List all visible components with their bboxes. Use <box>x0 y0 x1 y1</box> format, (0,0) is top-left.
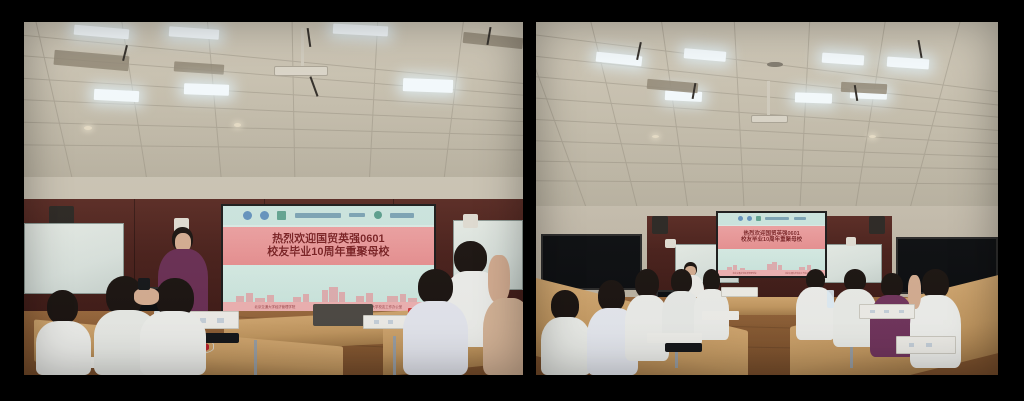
ceiling-light-panel <box>403 78 453 93</box>
attendee-arm <box>134 288 159 305</box>
logo-mark-icon <box>374 211 382 219</box>
ceiling <box>24 22 523 184</box>
gift-box <box>859 304 914 318</box>
ceiling-projector <box>751 115 788 123</box>
logo-mark-icon <box>747 216 752 221</box>
ceiling-grid <box>24 22 523 184</box>
slide-logo-bar <box>718 213 825 225</box>
logo-mark-icon <box>243 211 252 220</box>
attendee-with-phone <box>134 269 209 375</box>
wall-camera-right <box>463 214 478 228</box>
attendee <box>34 290 94 375</box>
photo-composite: 热烈欢迎国贸英强0601 校友毕业10周年重聚母校 <box>0 0 1024 401</box>
paper-on-table <box>702 311 739 320</box>
slide-footer-left: 北京交通大学经济管理学院 <box>732 272 756 275</box>
slide-title-line-2: 校友毕业10周年重聚母校 <box>267 246 389 259</box>
ceiling-downlight <box>869 135 876 138</box>
logo-wordmark-icon <box>794 217 806 220</box>
attendee-hair <box>47 290 78 324</box>
paper-on-table <box>647 333 702 344</box>
projection-screen[interactable]: 热烈欢迎国贸英强0601 校友毕业10周年重聚母校 <box>716 211 827 278</box>
logo-mark-icon <box>756 216 761 221</box>
slide-title-banner: 热烈欢迎国贸英强0601 校友毕业10周年重聚母校 <box>718 226 825 249</box>
attendee-shirt <box>541 317 592 375</box>
ceiling-downlight <box>234 123 241 127</box>
attendee <box>541 290 592 375</box>
ceiling-light-panel <box>795 93 832 104</box>
ceiling <box>536 22 998 220</box>
water-bottle <box>827 290 834 308</box>
attendee-arm <box>488 255 510 303</box>
slide-title-banner: 热烈欢迎国贸英强0601 校友毕业10周年重聚母校 <box>223 227 434 265</box>
slide-lower-panel <box>718 249 825 271</box>
attendee-shirt <box>403 301 468 375</box>
ceiling-light-panel <box>183 83 228 96</box>
wall-speaker-left <box>652 216 668 234</box>
ceiling-projector <box>274 66 329 77</box>
attendee <box>403 269 468 375</box>
presentation-slide: 热烈欢迎国贸英强0601 校友毕业10周年重聚母校 <box>718 213 825 276</box>
ceiling-downlight <box>84 126 92 130</box>
logo-mark-icon <box>277 211 286 220</box>
presentation-slide: 热烈欢迎国贸英强0601 校友毕业10周年重聚母校 <box>223 206 434 311</box>
logo-wordmark-icon <box>295 213 341 218</box>
photo-right[interactable]: 热烈欢迎国贸英强0601 校友毕业10周年重聚母校 <box>536 22 998 375</box>
attendee-shirt <box>140 311 206 375</box>
attendee-raising-phone <box>483 255 523 375</box>
logo-wordmark-icon <box>349 213 365 217</box>
attendee-shirt <box>36 321 91 375</box>
table-leg <box>393 336 396 375</box>
gift-box <box>896 336 956 354</box>
wall-camera-right <box>846 237 856 245</box>
phone-on-table <box>665 343 702 352</box>
photo-left[interactable]: 热烈欢迎国贸英强0601 校友毕业10周年重聚母校 <box>24 22 523 375</box>
attendee-hair <box>418 269 453 305</box>
slide-skyline-graphic <box>223 285 434 302</box>
right-scene: 热烈欢迎国贸英强0601 校友毕业10周年重聚母校 <box>536 22 998 375</box>
slide-title-line-1: 热烈欢迎国贸英强0601 <box>272 233 384 246</box>
left-scene: 热烈欢迎国贸英强0601 校友毕业10周年重聚母校 <box>24 22 523 375</box>
projector-mount-pole <box>301 28 304 67</box>
logo-mark-icon <box>738 216 743 221</box>
projector-mount-pole <box>767 81 770 117</box>
attendee-hair <box>551 290 579 320</box>
slide-title-line-2: 校友毕业10周年重聚母校 <box>741 237 802 243</box>
logo-wordmark-icon <box>390 213 414 218</box>
attendee-hair <box>598 280 625 312</box>
attendee-shirt <box>483 298 523 375</box>
wall-camera-left <box>665 239 675 247</box>
slide-footer-left: 北京交通大学经济管理学院 <box>255 304 296 309</box>
handheld-phone <box>138 278 150 291</box>
slide-lower-panel <box>223 265 434 303</box>
ceiling-downlight <box>652 135 659 138</box>
wall-speaker-right <box>869 216 885 234</box>
logo-mark-icon <box>260 211 269 220</box>
logo-wordmark-icon <box>765 217 789 220</box>
table-leg <box>254 340 257 375</box>
attendee <box>693 269 730 340</box>
gift-box <box>721 287 758 298</box>
phone-on-table <box>204 333 239 344</box>
slide-logo-bar <box>223 206 434 225</box>
